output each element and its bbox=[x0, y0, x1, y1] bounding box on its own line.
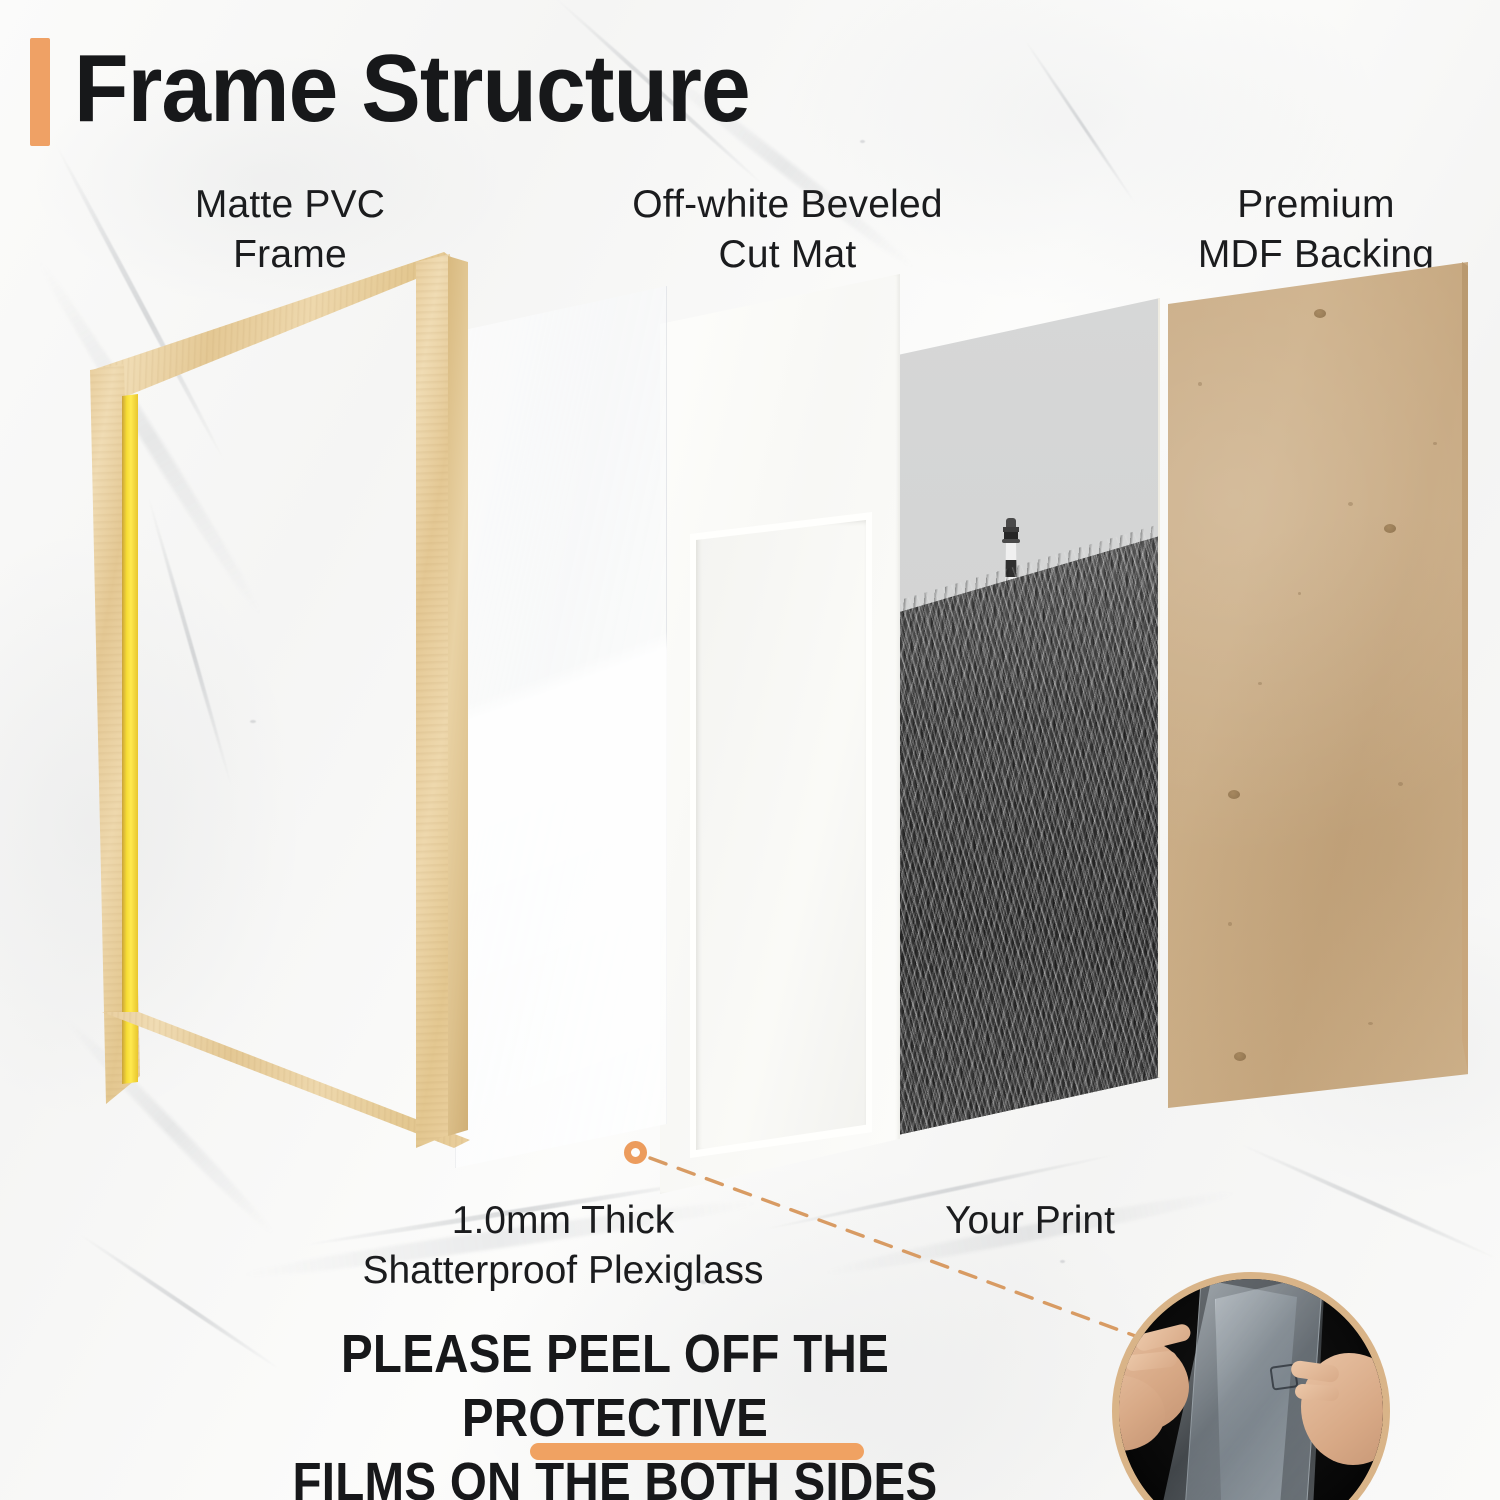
mdf-right-edge bbox=[1462, 262, 1468, 1072]
label-beveled-cut-mat: Off-white Beveled Cut Mat bbox=[560, 180, 1015, 280]
infographic-canvas: Frame Structure Matte PVC Frame Off-whit… bbox=[0, 0, 1500, 1500]
label-mdf-backing: Premium MDF Backing bbox=[1140, 180, 1492, 280]
layer-matte-pvc-frame bbox=[78, 252, 468, 1182]
finger-right bbox=[1295, 1383, 1340, 1401]
warning-highlight-bar bbox=[530, 1443, 864, 1460]
layer-mdf-backing bbox=[1168, 262, 1468, 1108]
staple-mark bbox=[1234, 1052, 1246, 1061]
frame-yellow-inner-lip bbox=[122, 394, 138, 1084]
label-your-print: Your Print bbox=[880, 1196, 1180, 1246]
staple-mark bbox=[1228, 790, 1240, 799]
title-accent-bar bbox=[30, 38, 50, 146]
layer-plexiglass bbox=[455, 286, 667, 1168]
warning-text: PLEASE PEEL OFF THE PROTECTIVE FILMS ON … bbox=[197, 1322, 1033, 1500]
mdf-surface bbox=[1168, 262, 1468, 1108]
inset-photo-peel-film bbox=[1112, 1272, 1390, 1500]
staple-mark bbox=[1314, 309, 1326, 318]
plexiglass-reflection bbox=[455, 286, 667, 1168]
label-plexiglass: 1.0mm Thick Shatterproof Plexiglass bbox=[245, 1196, 881, 1296]
frame-right-rail bbox=[416, 252, 450, 1154]
mat-window-opening bbox=[696, 520, 866, 1150]
layer-your-print bbox=[893, 298, 1160, 1136]
connector-dot bbox=[624, 1141, 647, 1164]
layer-beveled-cut-mat bbox=[660, 274, 900, 1194]
staple-mark bbox=[1384, 524, 1396, 533]
frame-top-rail bbox=[92, 252, 458, 412]
print-edges bbox=[893, 298, 1160, 1136]
frame-bottom-rail bbox=[102, 1012, 470, 1180]
page-title: Frame Structure bbox=[74, 34, 750, 144]
frame-right-depth-face bbox=[448, 254, 468, 1150]
